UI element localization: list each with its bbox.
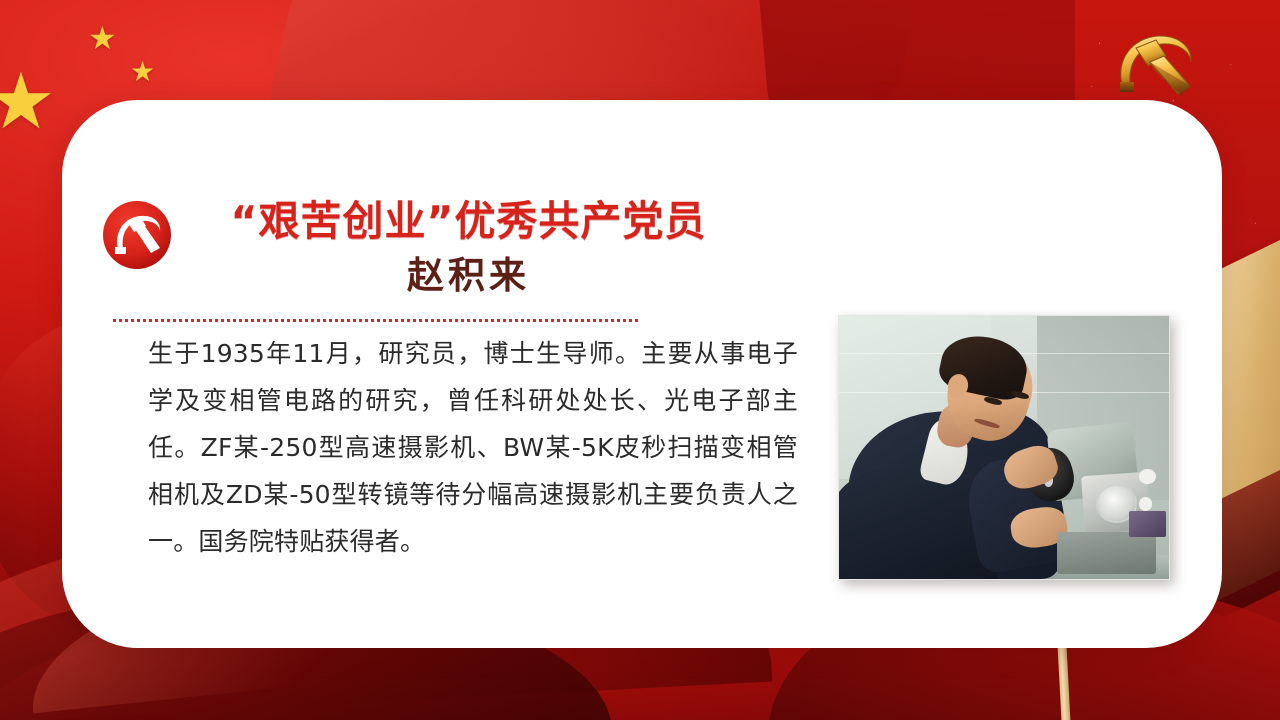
photo-background-object <box>1129 511 1165 537</box>
slide-canvas: ★ ★ ★ ★ ★ <box>0 0 1280 720</box>
title-person-name: 赵积来 <box>196 252 741 298</box>
dotted-divider <box>113 319 640 322</box>
party-emblem-icon <box>101 199 173 271</box>
portrait-photo <box>838 315 1170 580</box>
photo-image <box>839 316 1169 579</box>
photo-instrument-base <box>1057 532 1156 574</box>
photo-instrument-knob <box>1139 469 1156 485</box>
title-main-text: “艰苦创业”优秀共产党员 <box>196 198 741 246</box>
biography-paragraph: 生于1935年11月，研究员，博士生导师。主要从事电子学及变相管电路的研究，曾任… <box>148 330 798 565</box>
photo-instrument-knob <box>1139 497 1152 510</box>
page-title: “艰苦创业”优秀共产党员 赵积来 <box>196 198 741 298</box>
gold-hammer-sickle-icon <box>1106 26 1206 104</box>
